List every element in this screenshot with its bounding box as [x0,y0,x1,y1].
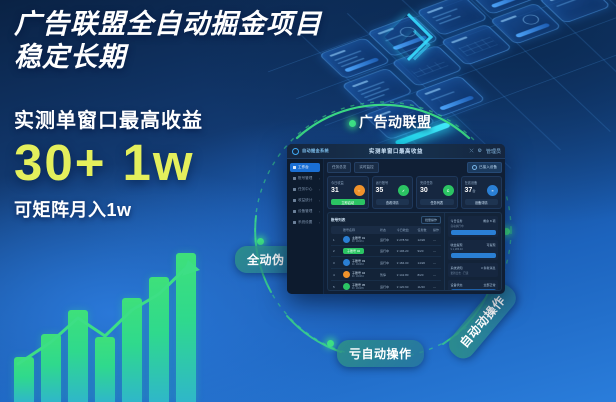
stat-button[interactable]: 立即启动 [331,199,365,205]
row-more-icon[interactable]: ⋯ [433,273,439,277]
growth-bar-chart [10,232,225,402]
dashboard-titlebar: 自动掘金系统 实测单窗口最高收益 ⤬ ⚙ 管理员 [287,144,505,159]
side-card-1[interactable]: 收益提现可提现 ¥ 1,286.40 [448,240,498,260]
row-account: 子账号 02 [343,248,378,254]
side-card-sub: 自动执行中 [451,224,496,228]
ring-node [349,120,356,127]
stat-badge: ✓ [398,185,409,196]
row-more-icon[interactable]: ⋯ [433,249,439,253]
row-more-icon[interactable]: ⋯ [433,285,439,289]
dashboard-sidebar: 工作台 账号管理 › 任务中心 › 收益统计 › [287,159,324,294]
stat-card-row: 今日收益 31 ↑↑ 立即启动 运行账号 35 ✓ 查看详情 [327,176,502,209]
table-header-row: 账号列表 批量操作 [331,216,441,224]
sidebar-label: 收益统计 [298,198,317,203]
row-index: 4 [333,273,341,277]
side-card-title: 今日任务 [451,219,463,223]
dashboard-main: 任务总览 实时监控 已接入设备 今日收益 31 ↑↑ 立即启动 [324,159,505,294]
row-income: ¥ 278.50 [397,238,416,242]
chevron-right-icon: › [319,199,320,203]
row-income: ¥ 142.80 [397,273,416,277]
row-more-icon[interactable]: ⋯ [433,238,439,242]
row-index: 2 [333,249,341,253]
device-status-label: 已接入设备 [479,165,497,170]
account-name: 子账号 02 [343,248,364,254]
account-id: ID: 100234 [352,275,365,278]
title-line-2: 稳定长期 [14,41,414,74]
chevron-right-icon: › [319,210,320,214]
row-income: ¥ 184.00 [397,261,416,265]
side-card-meta: 全部正常 [483,283,495,287]
sidebar-item-1[interactable]: 账号管理 › [290,174,320,183]
row-tasks: 14/20 [418,261,431,265]
account-id: ID: 100231 [352,240,365,243]
batch-action-button[interactable]: 批量操作 [421,216,441,224]
stat-card-2[interactable]: 完成任务 30 C 任务列表 [416,176,458,209]
ring-node [327,340,334,347]
title-line-1: 广告联盟全自动掘金项目 [14,8,414,41]
row-account: 子账号 04ID: 100234 [343,271,378,278]
ring-label-left-text: 全动伪 [247,251,285,268]
gear-icon [472,165,477,170]
ring-node [257,238,264,245]
task-icon [293,188,296,191]
chip-1[interactable]: 实时监控 [354,162,378,173]
ring-label-bottom-text: 亏自动操作 [349,345,412,362]
account-table: 账号列表 批量操作 账号名称 状态 今日收益 任务数 操作 1 [328,213,444,290]
table-column-headers: 账号名称 状态 今日收益 任务数 操作 [331,226,441,234]
side-card-sub: ¥ 1,286.40 [451,248,496,251]
row-status: 运行中 [380,285,395,289]
row-index: 5 [333,285,341,289]
ring-label-bottom: 亏自动操作 [337,340,424,367]
chart-icon [293,199,296,202]
chevron-right-icon: › [319,188,320,192]
col-5: 操作 [433,228,439,232]
col-0 [333,228,341,232]
col-3: 今日收益 [397,228,416,232]
sidebar-item-4[interactable]: 设备管理 › [290,207,320,216]
row-status: 运行中 [380,249,395,253]
row-status: 运行中 [380,261,395,265]
poster-canvas: 广告联盟全自动掘金项目 稳定长期 实测单窗口最高收益 30+1w 可矩阵月入1w [0,0,616,402]
dashboard-body: 工作台 账号管理 › 任务中心 › 收益统计 › [287,159,505,294]
grid-icon [293,166,296,169]
sidebar-label: 设备管理 [298,209,317,214]
poster-big-number: 30+1w [14,133,195,192]
table-row[interactable]: 5 子账号 05ID: 100235 运行中 ¥ 120.60 11/20 ⋯ [331,281,441,291]
table-row[interactable]: 1 主账号 01ID: 100231 运行中 ¥ 278.50 12/20 ⋯ [331,234,441,246]
stat-button[interactable]: 设备详情 [465,199,499,205]
row-tasks: 8/20 [418,273,431,277]
side-card-title: 系统通知 [451,266,463,270]
chevron-right-icon: › [319,221,320,225]
stat-badge: ≡ [487,185,498,196]
sidebar-label: 系统设置 [298,220,317,225]
table-row[interactable]: 3 子账号 03ID: 100233 运行中 ¥ 184.00 14/20 ⋯ [331,257,441,269]
col-2: 状态 [380,228,395,232]
row-status: 运行中 [380,238,395,242]
row-status: 暂停 [380,273,395,277]
side-card-sub: 更新日志 · 已读 [451,271,496,275]
sidebar-item-3[interactable]: 收益统计 › [290,196,320,205]
row-tasks: 9/20 [418,249,431,253]
chart-trend-line [10,232,225,402]
table-title: 账号列表 [331,218,345,223]
stat-button[interactable]: 查看详情 [376,199,410,205]
row-index: 3 [333,261,341,265]
side-card-meta: 剩余 8 项 [483,219,495,223]
poster-subhead: 实测单窗口最高收益 [14,104,203,133]
side-card-title: 设备状态 [451,283,463,287]
row-more-icon[interactable]: ⋯ [433,261,439,265]
row-tasks: 11/20 [418,285,431,289]
big-number-right: 1w [123,134,195,191]
col-4: 任务数 [418,228,431,232]
avatar [343,259,350,266]
table-row[interactable]: 4 子账号 04ID: 100234 暂停 ¥ 142.80 8/20 ⋯ [331,269,441,281]
sidebar-item-0[interactable]: 工作台 [290,163,320,172]
side-card-button[interactable] [451,253,496,258]
sidebar-item-2[interactable]: 任务中心 › [290,185,320,194]
stat-value: 37台 [465,187,476,195]
side-card-2[interactable]: 系统通知3 条新消息 更新日志 · 已读 [448,263,498,277]
table-panel: 账号列表 批量操作 账号名称 状态 今日收益 任务数 操作 1 [327,212,502,291]
chevron-right-icon: › [319,177,320,181]
poster-title: 广告联盟全自动掘金项目 稳定长期 [14,8,414,75]
window-title: 实测单窗口最高收益 [287,147,505,155]
side-card-button[interactable] [451,230,496,235]
row-income: ¥ 120.60 [397,285,416,289]
stat-value: 31 [331,187,339,195]
user-icon [293,177,296,180]
stat-button[interactable]: 任务列表 [420,199,454,205]
row-account: 主账号 01ID: 100231 [343,236,378,243]
row-account: 子账号 03ID: 100233 [343,259,378,266]
side-card-0[interactable]: 今日任务剩余 8 项 自动执行中 [448,216,498,237]
stat-card-1[interactable]: 运行账号 35 ✓ 查看详情 [372,176,414,209]
side-card-3[interactable]: 设备状态全部正常 [448,280,498,291]
sidebar-item-5[interactable]: 系统设置 › [290,218,320,227]
sidebar-label: 任务中心 [298,187,317,192]
side-card-title: 收益提现 [451,243,463,247]
stat-card-0[interactable]: 今日收益 31 ↑↑ 立即启动 [327,176,369,209]
row-account: 子账号 05ID: 100235 [343,283,378,290]
stat-value: 30 [420,187,428,195]
stat-value: 35 [376,187,384,195]
row-tasks: 12/20 [418,238,431,242]
right-side-panel: 今日任务剩余 8 项 自动执行中 收益提现可提现 ¥ 1,286.40 系统通知… [444,213,501,290]
gear-icon [293,221,296,224]
side-card-meta: 3 条新消息 [481,266,496,270]
table-row[interactable]: 2 子账号 02 运行中 ¥ 196.20 9/20 ⋯ [331,246,441,257]
avatar [343,236,350,243]
col-1: 账号名称 [343,228,378,232]
side-card-button[interactable] [451,289,496,292]
device-icon [293,210,296,213]
row-income: ¥ 196.20 [397,249,416,253]
device-status-chip[interactable]: 已接入设备 [467,162,502,173]
poster-tagline: 可矩阵月入1w [14,196,132,222]
stat-card-3[interactable]: 在线设备 37台 ≡ 设备详情 [461,176,503,209]
filter-chip-row: 任务总览 实时监控 已接入设备 [327,162,502,173]
sidebar-label: 账号管理 [298,176,317,181]
account-id: ID: 100235 [352,287,365,290]
chip-0[interactable]: 任务总览 [327,162,351,173]
dashboard-window[interactable]: 自动掘金系统 实测单窗口最高收益 ⤬ ⚙ 管理员 工作台 账号管理 › [287,144,505,294]
stat-badge: ↑↑ [354,185,365,196]
ring-top-label: 广告动联盟 [359,112,432,132]
side-card-meta: 可提现 [486,243,495,247]
sidebar-label: 工作台 [298,165,320,170]
avatar [343,271,350,278]
big-number-left: 30+ [14,134,107,191]
stat-badge: C [443,185,454,196]
row-index: 1 [333,238,341,242]
account-id: ID: 100233 [352,263,365,266]
avatar [343,283,350,290]
